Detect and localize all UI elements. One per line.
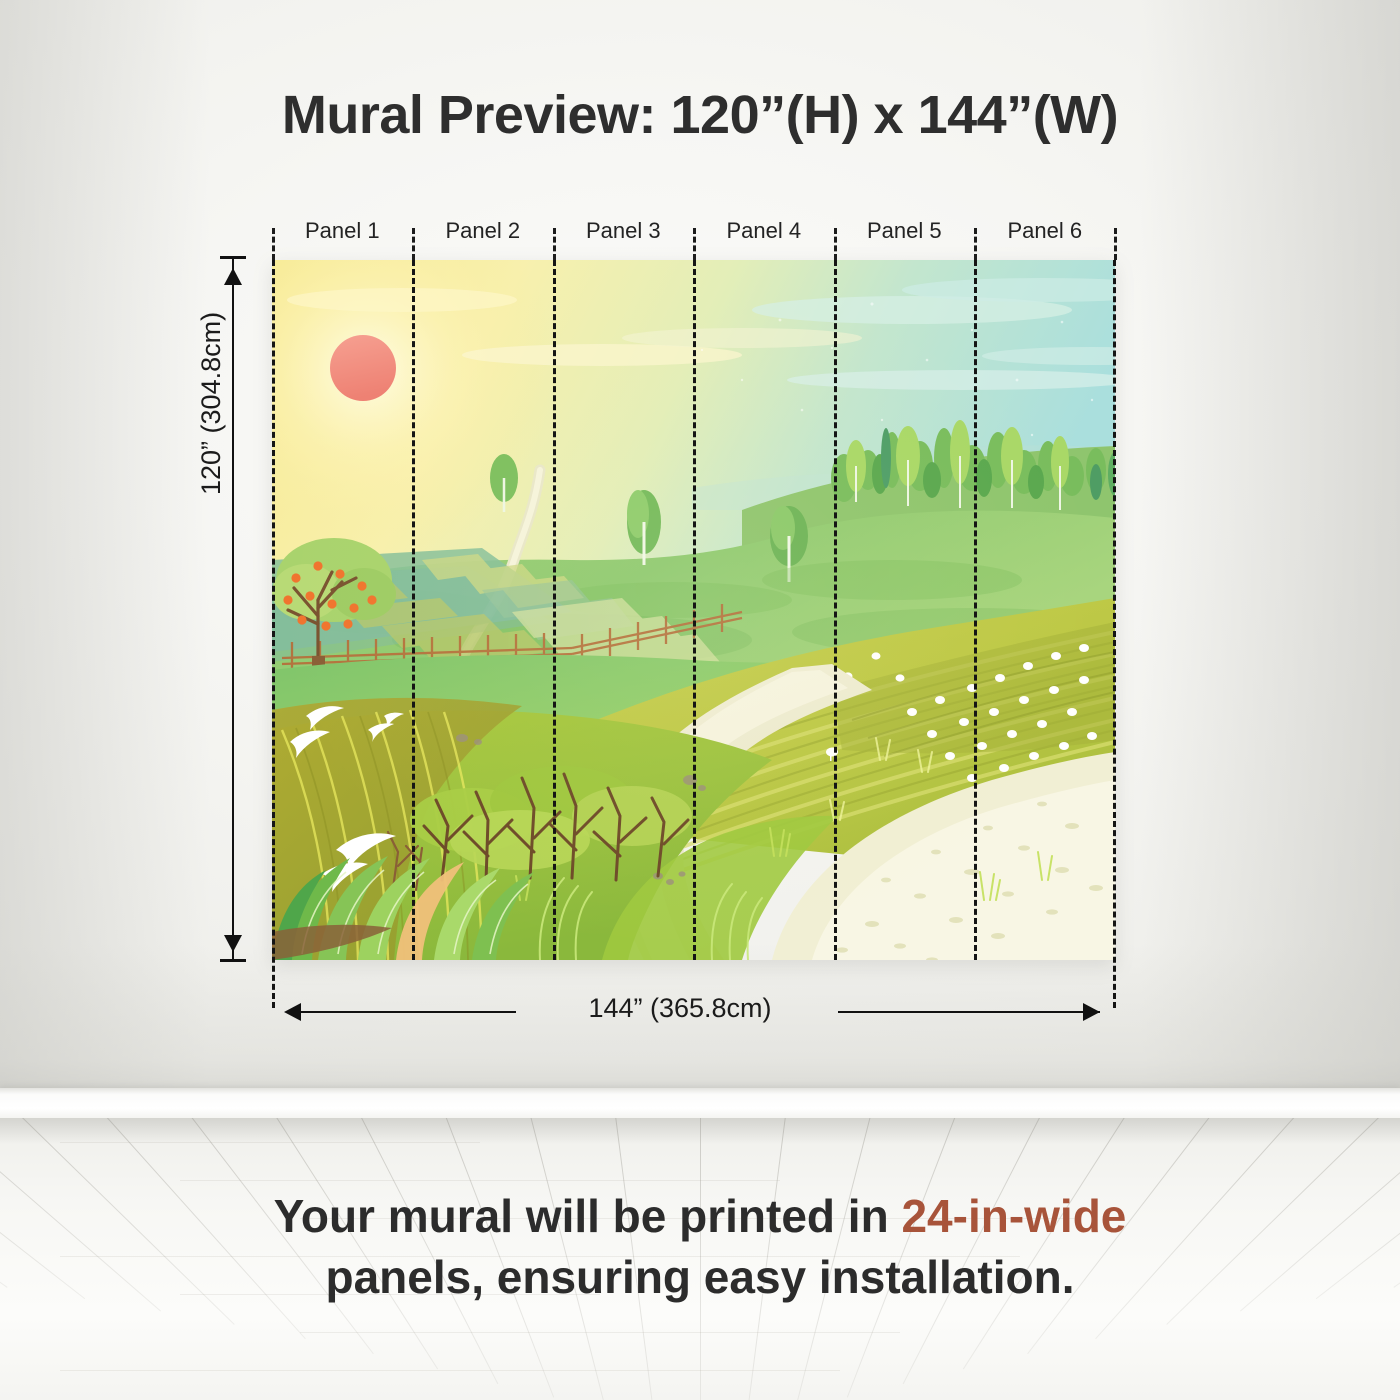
mural-left-edge-dash bbox=[272, 260, 275, 1008]
panel-label-5: Panel 5 bbox=[834, 214, 975, 248]
caption: Your mural will be printed in 24-in-wide… bbox=[0, 1186, 1400, 1307]
floor-grain bbox=[180, 1180, 780, 1181]
width-arrow-right bbox=[1083, 1003, 1100, 1021]
width-dimension-line-left bbox=[286, 1011, 516, 1013]
floor-grain bbox=[60, 1370, 840, 1371]
panel-label-6: Panel 6 bbox=[975, 214, 1116, 248]
mural-right-edge-dash bbox=[1113, 260, 1116, 1008]
height-cap-top bbox=[220, 256, 246, 259]
panel-label-1: Panel 1 bbox=[272, 214, 413, 248]
height-dimension-label: 120” (304.8cm) bbox=[196, 312, 227, 495]
mural-artwork bbox=[272, 260, 1115, 960]
mural-preview[interactable] bbox=[272, 260, 1115, 960]
height-arrow-down bbox=[224, 935, 242, 952]
height-cap-bottom bbox=[220, 959, 246, 962]
wall-right-shadow bbox=[1140, 0, 1400, 1104]
floor-grain bbox=[300, 1332, 900, 1333]
panel-label-3: Panel 3 bbox=[553, 214, 694, 248]
wall-left-shadow bbox=[0, 0, 210, 1104]
floor-grain bbox=[60, 1142, 480, 1143]
panel-tick-2 bbox=[553, 228, 556, 260]
baseboard bbox=[0, 1088, 1400, 1122]
panel-tick-3 bbox=[693, 228, 696, 260]
caption-line-2: panels, ensuring easy installation. bbox=[0, 1247, 1400, 1308]
panel-tick-4 bbox=[834, 228, 837, 260]
panel-tick-1 bbox=[412, 228, 415, 260]
panel-label-2: Panel 2 bbox=[413, 214, 554, 248]
caption-line-1: Your mural will be printed in 24-in-wide bbox=[0, 1186, 1400, 1247]
panel-tick-6 bbox=[1114, 228, 1117, 260]
panel-label-4: Panel 4 bbox=[694, 214, 835, 248]
width-arrow-left bbox=[284, 1003, 301, 1021]
caption-accent: 24-in-wide bbox=[901, 1190, 1126, 1242]
panel-tick-5 bbox=[974, 228, 977, 260]
panel-tick-0 bbox=[272, 228, 275, 260]
height-arrow-up bbox=[224, 268, 242, 285]
page-title: Mural Preview: 120”(H) x 144”(W) bbox=[0, 84, 1400, 146]
height-dimension-line bbox=[232, 258, 234, 962]
width-dimension-label: 144” (365.8cm) bbox=[520, 993, 840, 1024]
caption-line1-before: Your mural will be printed in bbox=[274, 1190, 902, 1242]
width-dimension-line-right bbox=[838, 1011, 1100, 1013]
